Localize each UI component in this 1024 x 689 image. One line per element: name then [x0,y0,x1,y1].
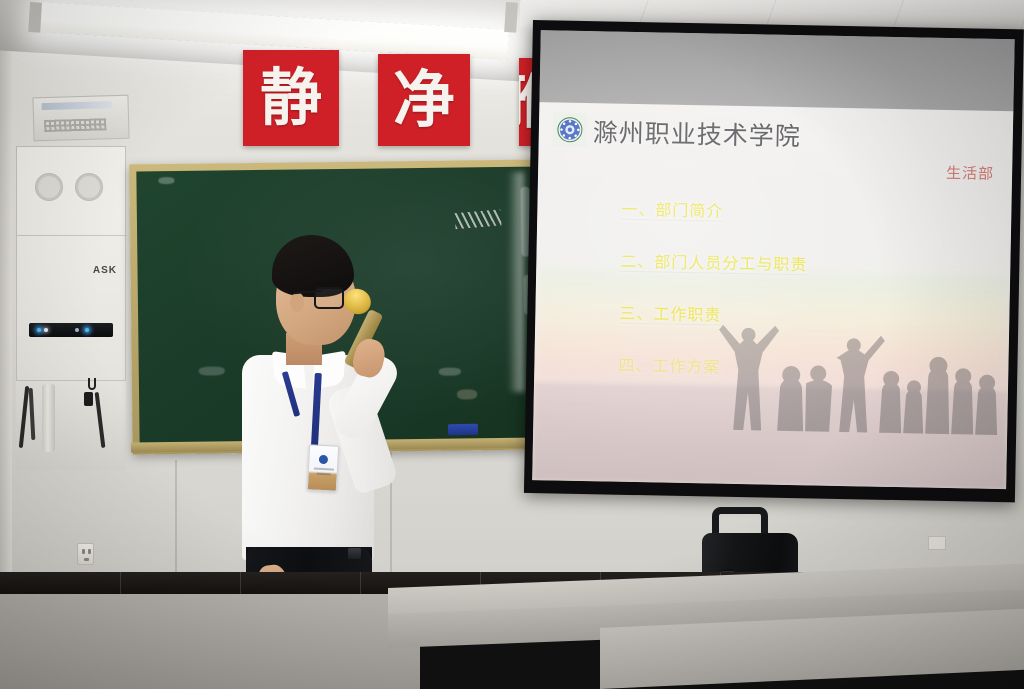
badge-text-line [317,473,331,476]
av-overhead-unit [32,95,129,142]
slide-agenda-item-2: 二、部门人员分工与职责 [620,248,950,278]
board-glare [508,172,524,392]
classroom-photo-scene: 静 净 雅 ASK [0,0,1024,689]
av-conduit-pipe [42,384,55,452]
wall-sign-quiet: 静 [243,50,339,146]
wall-seam [175,460,177,572]
belt-buckle [348,548,361,559]
badge-text-line [314,468,334,471]
id-badge [307,444,339,492]
room-floor [0,594,420,689]
chalk-writing [454,209,501,229]
av-brand-label: ASK [93,265,117,276]
silhouette-group-graphic [713,312,1005,438]
slide-agenda-item-1: 一、部门简介 [621,196,951,226]
wall-sign-clean: 净 [378,54,470,146]
slide-department-label: 生活部 [946,162,994,184]
slide-college-title: 滁州职业技术学院 [593,113,802,153]
av-led-indicator [85,328,89,332]
chalk-smudge [439,368,461,376]
chalk-smudge [158,177,174,184]
av-fan-right [75,173,103,201]
wall-sign-clean-text: 净 [393,69,455,131]
av-led-indicator [75,328,79,332]
wall-sign-quiet-text: 静 [260,67,322,129]
wall-power-outlet[interactable] [77,543,94,565]
wall-outlet-right[interactable] [928,536,946,550]
av-overhead-vent [44,118,106,132]
av-panel-divider [17,235,127,236]
presentation-slide: 滁州职业技术学院 生活部 一、部门简介 二、部门人员分工与职责 三、工作职责 四… [532,102,1013,489]
badge-logo-icon [319,455,328,464]
av-led-indicator [37,328,41,332]
ear [290,293,304,312]
av-clip [84,392,93,406]
projection-screen-frame: 滁州职业技术学院 生活部 一、部门简介 二、部门人员分工与职责 三、工作职责 四… [524,20,1024,502]
av-hook [88,378,96,390]
av-control-panel[interactable] [29,323,113,337]
tube-end-cap [504,2,518,33]
tube-end-cap [28,2,42,33]
wall-left-edge [0,30,12,590]
av-led-indicator [44,328,48,332]
chalk-smudge [199,366,225,375]
av-fan-left [35,173,63,201]
av-overhead-label [42,101,112,110]
chalk-smudge [457,389,477,399]
projection-screen-surface: 滁州职业技术学院 生活部 一、部门简介 二、部门人员分工与职责 三、工作职责 四… [532,30,1015,489]
college-emblem-icon [553,112,588,147]
blackboard-eraser[interactable] [448,424,478,436]
